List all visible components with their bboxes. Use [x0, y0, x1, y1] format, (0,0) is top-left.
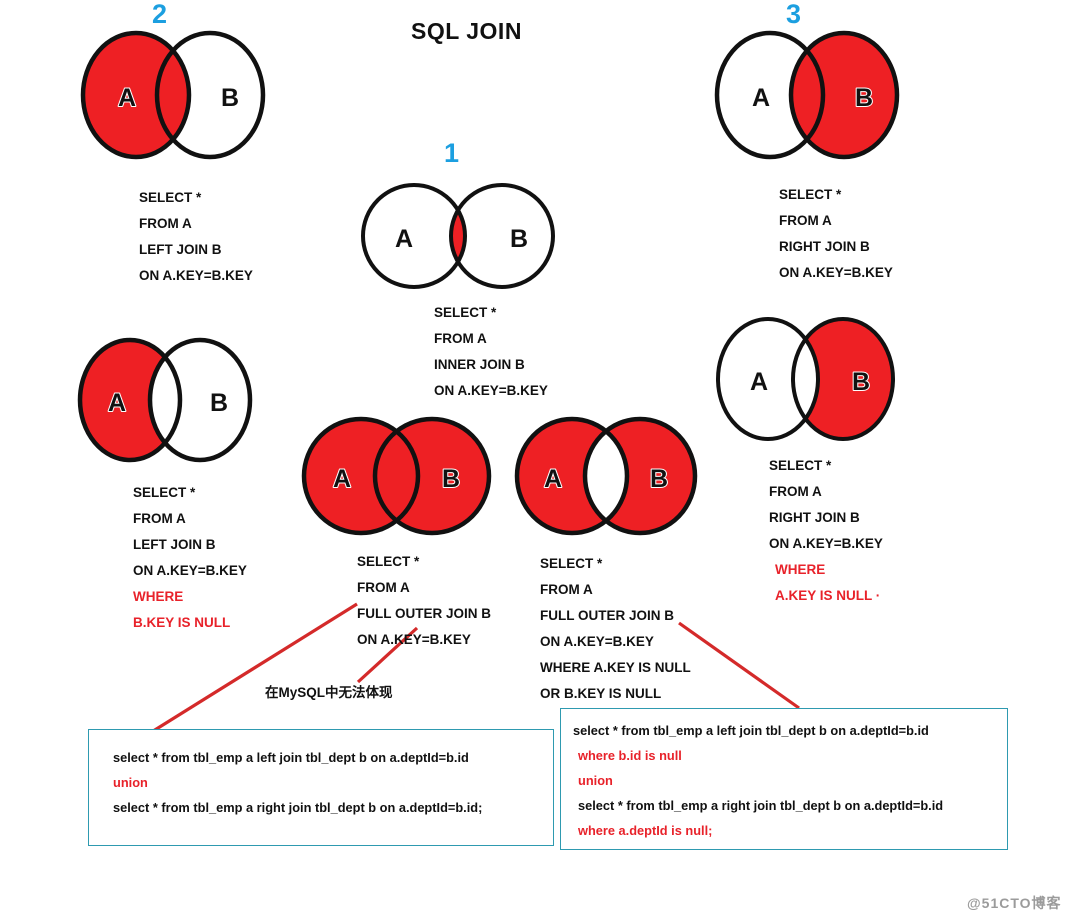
- sql-line: OR B.KEY IS NULL: [540, 681, 691, 707]
- sql-line: SELECT *: [139, 185, 253, 211]
- sql-line: SELECT *: [357, 549, 491, 575]
- sql-line: ON A.KEY=B.KEY: [540, 629, 691, 655]
- venn-inner-join: A B: [364, 178, 554, 298]
- venn-label-a: A: [333, 465, 351, 493]
- code-line: select * from tbl_emp a right join tbl_d…: [573, 794, 1007, 819]
- venn-full-outer-join-excluding: A B: [512, 415, 702, 540]
- mysql-unsupported-note: 在MySQL中无法体现: [265, 681, 393, 701]
- sql-line: A.KEY IS NULL ·: [769, 583, 883, 609]
- sql-line: SELECT *: [133, 480, 247, 506]
- caption-inner-join: SELECT * FROM A INNER JOIN B ON A.KEY=B.…: [434, 300, 548, 404]
- venn-label-b: B: [650, 465, 668, 493]
- sql-line: FROM A: [139, 211, 253, 237]
- code-box-full-outer-join-excluding: select * from tbl_emp a left join tbl_de…: [560, 708, 1008, 850]
- caption-left-join-excluding: SELECT * FROM A LEFT JOIN B ON A.KEY=B.K…: [133, 480, 247, 636]
- venn-label-a: A: [118, 84, 136, 112]
- sql-line: FULL OUTER JOIN B: [357, 601, 491, 627]
- venn-label-b: B: [210, 389, 228, 417]
- sql-line: FROM A: [540, 577, 691, 603]
- sql-line: FULL OUTER JOIN B: [540, 603, 691, 629]
- caption-right-join-excluding: SELECT * FROM A RIGHT JOIN B ON A.KEY=B.…: [769, 453, 883, 609]
- venn-full-outer-join: A B: [300, 415, 495, 540]
- sql-line: LEFT JOIN B: [133, 532, 247, 558]
- caption-left-join: SELECT * FROM A LEFT JOIN B ON A.KEY=B.K…: [139, 185, 253, 289]
- venn-label-a: A: [395, 225, 413, 253]
- sql-line: ON A.KEY=B.KEY: [139, 263, 253, 289]
- sql-line: FROM A: [133, 506, 247, 532]
- sql-line: INNER JOIN B: [434, 352, 548, 378]
- sql-line: WHERE A.KEY IS NULL: [540, 655, 691, 681]
- code-line: select * from tbl_emp a left join tbl_de…: [573, 719, 1007, 744]
- sql-line: RIGHT JOIN B: [779, 234, 893, 260]
- sql-line: SELECT *: [434, 300, 548, 326]
- code-line: where a.deptId is null;: [573, 819, 1007, 844]
- venn-label-a: A: [108, 389, 126, 417]
- watermark: @51CTO博客: [967, 893, 1062, 913]
- sql-line: SELECT *: [769, 453, 883, 479]
- step-number-right-join: 3: [786, 1, 801, 28]
- sql-join-infographic: SQL JOIN 2 A B SELECT * FROM A LEFT JOIN…: [0, 0, 1091, 923]
- venn-label-a: A: [544, 465, 562, 493]
- page-title: SQL JOIN: [411, 18, 522, 45]
- sql-line: SELECT *: [540, 551, 691, 577]
- sql-line: LEFT JOIN B: [139, 237, 253, 263]
- code-line: union: [573, 769, 1007, 794]
- code-line: union: [113, 771, 553, 796]
- venn-right-join-excluding: A B: [712, 315, 897, 445]
- venn-label-a: A: [750, 368, 768, 396]
- sql-line: ON A.KEY=B.KEY: [133, 558, 247, 584]
- sql-line: SELECT *: [779, 182, 893, 208]
- sql-line: WHERE: [769, 557, 883, 583]
- venn-label-b: B: [221, 84, 239, 112]
- venn-label-b: B: [510, 225, 528, 253]
- sql-line: B.KEY IS NULL: [133, 610, 247, 636]
- venn-label-b: B: [852, 368, 870, 396]
- caption-right-join: SELECT * FROM A RIGHT JOIN B ON A.KEY=B.…: [779, 182, 893, 286]
- code-line: where b.id is null: [573, 744, 1007, 769]
- code-line: select * from tbl_emp a left join tbl_de…: [113, 746, 553, 771]
- venn-label-b: B: [855, 84, 873, 112]
- sql-line: FROM A: [434, 326, 548, 352]
- sql-line: ON A.KEY=B.KEY: [769, 531, 883, 557]
- caption-full-outer-join-excluding: SELECT * FROM A FULL OUTER JOIN B ON A.K…: [540, 551, 691, 707]
- sql-line: FROM A: [357, 575, 491, 601]
- step-number-left-join: 2: [152, 1, 167, 28]
- code-box-full-outer-join: select * from tbl_emp a left join tbl_de…: [88, 729, 554, 846]
- sql-line: FROM A: [779, 208, 893, 234]
- step-number-inner-join: 1: [444, 140, 459, 167]
- sql-line: ON A.KEY=B.KEY: [434, 378, 548, 404]
- sql-line: ON A.KEY=B.KEY: [357, 627, 491, 653]
- sql-line: WHERE: [133, 584, 247, 610]
- caption-full-outer-join: SELECT * FROM A FULL OUTER JOIN B ON A.K…: [357, 549, 491, 653]
- code-line: select * from tbl_emp a right join tbl_d…: [113, 796, 553, 821]
- venn-right-join: A B: [712, 28, 902, 163]
- venn-label-a: A: [752, 84, 770, 112]
- venn-label-b: B: [442, 465, 460, 493]
- venn-left-join-excluding: A B: [74, 336, 254, 466]
- sql-line: RIGHT JOIN B: [769, 505, 883, 531]
- sql-line: ON A.KEY=B.KEY: [779, 260, 893, 286]
- sql-line: FROM A: [769, 479, 883, 505]
- venn-left-join: A B: [78, 28, 268, 163]
